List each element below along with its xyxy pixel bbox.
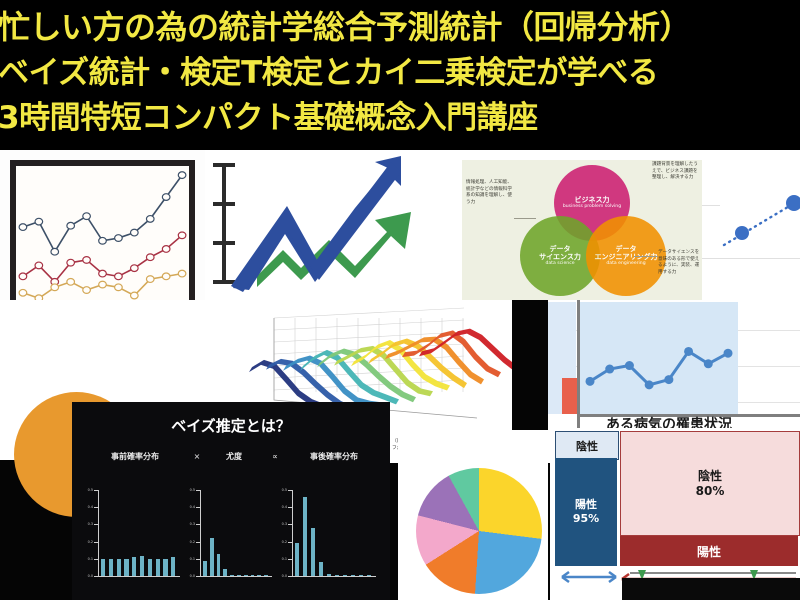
y-tick-label: 0.3 xyxy=(78,522,93,526)
bar xyxy=(257,575,261,576)
y-tick xyxy=(94,559,99,560)
line-marker xyxy=(83,287,91,294)
y-tick xyxy=(288,542,293,543)
line-marker xyxy=(35,262,43,269)
y-tick xyxy=(288,524,293,525)
line-marker xyxy=(19,273,27,280)
y-tick xyxy=(196,490,201,491)
y-axis xyxy=(292,490,293,576)
line-marker xyxy=(131,229,139,236)
bar xyxy=(295,543,299,576)
venn-note-left: 情報処理、人工知能、統計学などの情報科学系の知識を理解し、使う力 xyxy=(466,180,514,207)
bayes-panel-title: ベイズ推定とは？ xyxy=(72,415,390,436)
bar xyxy=(210,538,214,576)
axis-bracket-icon xyxy=(213,163,235,284)
disease-marker xyxy=(704,359,713,368)
y-tick xyxy=(94,524,99,525)
likelihood-distribution-chart: 0.00.10.20.30.40.5 xyxy=(188,490,276,582)
dotted-trend-panel xyxy=(720,185,800,255)
diagnostic-mosaic-panel: 陰性 陽性 95% 陰性 80% 陽性 xyxy=(550,428,800,600)
arrows-svg xyxy=(205,150,445,300)
line-marker xyxy=(146,216,154,223)
y-tick xyxy=(288,490,293,491)
line-chart-svg xyxy=(16,166,189,318)
bayes-prior-label: 事前確率分布 xyxy=(80,451,190,462)
bar xyxy=(359,575,363,576)
venn-note-top: 課題背景を理解したうえで、ビジネス課題を整理し、解決する力 xyxy=(652,162,702,182)
line-marker xyxy=(35,218,43,225)
bayes-likelihood-label: 尤度 xyxy=(204,451,264,462)
disease-marker xyxy=(586,377,595,386)
prior-distribution-chart: 0.00.10.20.30.40.5 xyxy=(86,490,184,582)
venn-note-right: データサイエンスを意味のある形で使えるように、実装、運用する力 xyxy=(658,250,702,277)
line-marker xyxy=(131,292,139,299)
line-marker xyxy=(99,270,107,277)
x-axis xyxy=(200,576,272,577)
line-marker xyxy=(51,284,59,291)
line-marker xyxy=(67,222,75,229)
y-tick-label: 0.5 xyxy=(78,488,93,492)
y-tick-label: 0.3 xyxy=(272,522,287,526)
title-banner: 忙しい方の為の統計学総合予測統計（回帰分析） ベイズ統計・検定T検定とカイ二乗検… xyxy=(0,0,800,150)
bar xyxy=(101,559,105,576)
line-marker xyxy=(67,259,75,266)
y-tick-label: 0.2 xyxy=(272,540,287,544)
dotted-trend-svg xyxy=(720,185,800,255)
line-marker xyxy=(83,213,91,220)
mosaic-top-strip xyxy=(620,428,798,430)
y-tick xyxy=(196,576,201,577)
disease-marker xyxy=(625,361,634,370)
line-marker xyxy=(115,284,123,291)
bar xyxy=(319,562,323,576)
y-axis xyxy=(98,490,99,576)
y-tick-label: 0.1 xyxy=(272,557,287,561)
y-tick-label: 0.2 xyxy=(180,540,195,544)
y-tick xyxy=(288,507,293,508)
data-scientist-skills-venn-panel: 情報処理、人工知能、統計学などの情報科学系の知識を理解し、使う力 ビジネス力 b… xyxy=(462,160,702,300)
x-axis xyxy=(98,576,180,577)
black-corner-fill xyxy=(622,578,800,600)
bar xyxy=(264,575,268,576)
bar xyxy=(244,575,248,576)
disease-marker xyxy=(605,365,614,374)
line-marker xyxy=(178,232,186,239)
bar xyxy=(217,554,221,576)
bar xyxy=(156,559,160,576)
line-marker xyxy=(67,278,75,285)
line-marker xyxy=(99,237,107,244)
leader-line-left xyxy=(514,218,536,219)
line-marker xyxy=(115,235,123,242)
bar xyxy=(223,569,227,576)
line-marker xyxy=(19,289,27,296)
y-tick-label: 0.5 xyxy=(180,488,195,492)
y-axis xyxy=(200,490,201,576)
mosaic-positive-block: 陽性 xyxy=(620,536,798,566)
y-tick-label: 0.4 xyxy=(78,505,93,509)
line-marker xyxy=(83,257,91,264)
y-tick-label: 0.0 xyxy=(78,574,93,578)
disease-marker xyxy=(684,347,693,356)
title-line-1: 忙しい方の為の統計学総合予測統計（回帰分析） xyxy=(0,2,691,48)
bar xyxy=(237,575,241,576)
y-tick xyxy=(94,507,99,508)
line-marker xyxy=(115,273,123,280)
line-marker xyxy=(162,194,170,201)
line-marker xyxy=(146,254,154,261)
mosaic-negative-block-pct: 80% xyxy=(696,484,725,499)
pie-chart-panel xyxy=(398,430,548,600)
y-tick xyxy=(94,576,99,577)
mosaic-negative-block: 陰性 80% xyxy=(620,431,800,536)
bar xyxy=(132,557,136,576)
bar xyxy=(335,575,339,576)
bar xyxy=(327,574,331,576)
bar xyxy=(367,575,371,576)
bar xyxy=(140,556,144,576)
y-tick xyxy=(288,559,293,560)
disease-y-axis xyxy=(577,300,580,446)
mosaic-negative-block-label: 陰性 xyxy=(698,469,722,484)
y-tick-label: 0.3 xyxy=(180,522,195,526)
bar xyxy=(148,559,152,576)
disease-prevalence-panel: ある病気の罹患状況 xyxy=(548,300,800,448)
blue-double-arrow-icon xyxy=(562,572,616,582)
y-tick-label: 0.0 xyxy=(272,574,287,578)
y-tick-label: 0.2 xyxy=(78,540,93,544)
disease-plot-area xyxy=(578,302,738,414)
line-marker xyxy=(146,276,154,283)
venn-sub-business: business problem solving xyxy=(563,204,621,210)
nationality-survey-pie xyxy=(416,468,542,594)
divider-line-2 xyxy=(700,258,800,259)
scatter-point xyxy=(786,195,800,211)
leader-line-right xyxy=(634,256,658,257)
bar xyxy=(303,497,307,576)
line-marker xyxy=(162,273,170,280)
y-tick xyxy=(196,507,201,508)
growth-arrows-panel xyxy=(205,150,445,300)
y-tick xyxy=(196,542,201,543)
y-tick-label: 0.4 xyxy=(180,505,195,509)
disease-marker xyxy=(664,375,673,384)
mosaic-positive-column-label: 陽性 xyxy=(575,498,597,512)
venn-sub-data-science: data science xyxy=(545,261,574,267)
bar xyxy=(124,559,128,576)
y-tick xyxy=(196,559,201,560)
thumbnail-canvas: 情報処理、人工知能、統計学などの情報科学系の知識を理解し、使う力 ビジネス力 b… xyxy=(0,0,800,600)
y-tick-label: 0.5 xyxy=(272,488,287,492)
scatter-point xyxy=(735,226,749,240)
y-tick xyxy=(94,490,99,491)
disease-line-svg xyxy=(578,302,738,414)
y-tick-label: 0.1 xyxy=(78,557,93,561)
bar xyxy=(203,561,207,576)
y-tick xyxy=(288,576,293,577)
line-marker xyxy=(51,248,59,255)
bar xyxy=(251,575,255,576)
line-marker xyxy=(178,270,186,277)
venn-sub-data-engineering: data engineering xyxy=(606,261,645,267)
bar xyxy=(109,559,113,576)
line-marker xyxy=(178,172,186,179)
blue-arrow-shaft xyxy=(231,162,401,292)
bar xyxy=(351,575,355,576)
line-marker xyxy=(162,246,170,253)
line-marker xyxy=(99,281,107,288)
line-marker xyxy=(19,224,27,231)
mosaic-positive-column: 陽性 95% xyxy=(555,458,617,566)
bayes-estimation-panel: ベイズ推定とは？ 事前確率分布 × 尤度 ∝ 事後確率分布 0.00.10.20… xyxy=(72,402,390,600)
mosaic-negative-header: 陰性 xyxy=(555,431,619,460)
disease-marker xyxy=(645,380,654,389)
y-tick-label: 0.1 xyxy=(180,557,195,561)
bar xyxy=(117,559,121,576)
y-tick-label: 0.4 xyxy=(272,505,287,509)
mosaic-positive-column-pct: 95% xyxy=(573,512,599,526)
title-line-3: 3時間特短コンパクト基礎概念入門講座 xyxy=(0,92,538,137)
bar xyxy=(171,557,175,576)
x-axis xyxy=(292,576,376,577)
title-line-2: ベイズ統計・検定T検定とカイ二乗検定が学べる xyxy=(0,47,658,92)
y-tick-label: 0.0 xyxy=(180,574,195,578)
disease-marker xyxy=(724,349,733,358)
bar xyxy=(343,575,347,576)
bar xyxy=(311,528,315,576)
y-tick xyxy=(94,542,99,543)
posterior-distribution-chart: 0.00.10.20.30.40.5 xyxy=(280,490,380,582)
y-tick xyxy=(196,524,201,525)
bar xyxy=(230,575,234,576)
bar xyxy=(163,559,167,576)
line-marker xyxy=(131,265,139,272)
bayes-posterior-label: 事後確率分布 xyxy=(284,451,384,462)
